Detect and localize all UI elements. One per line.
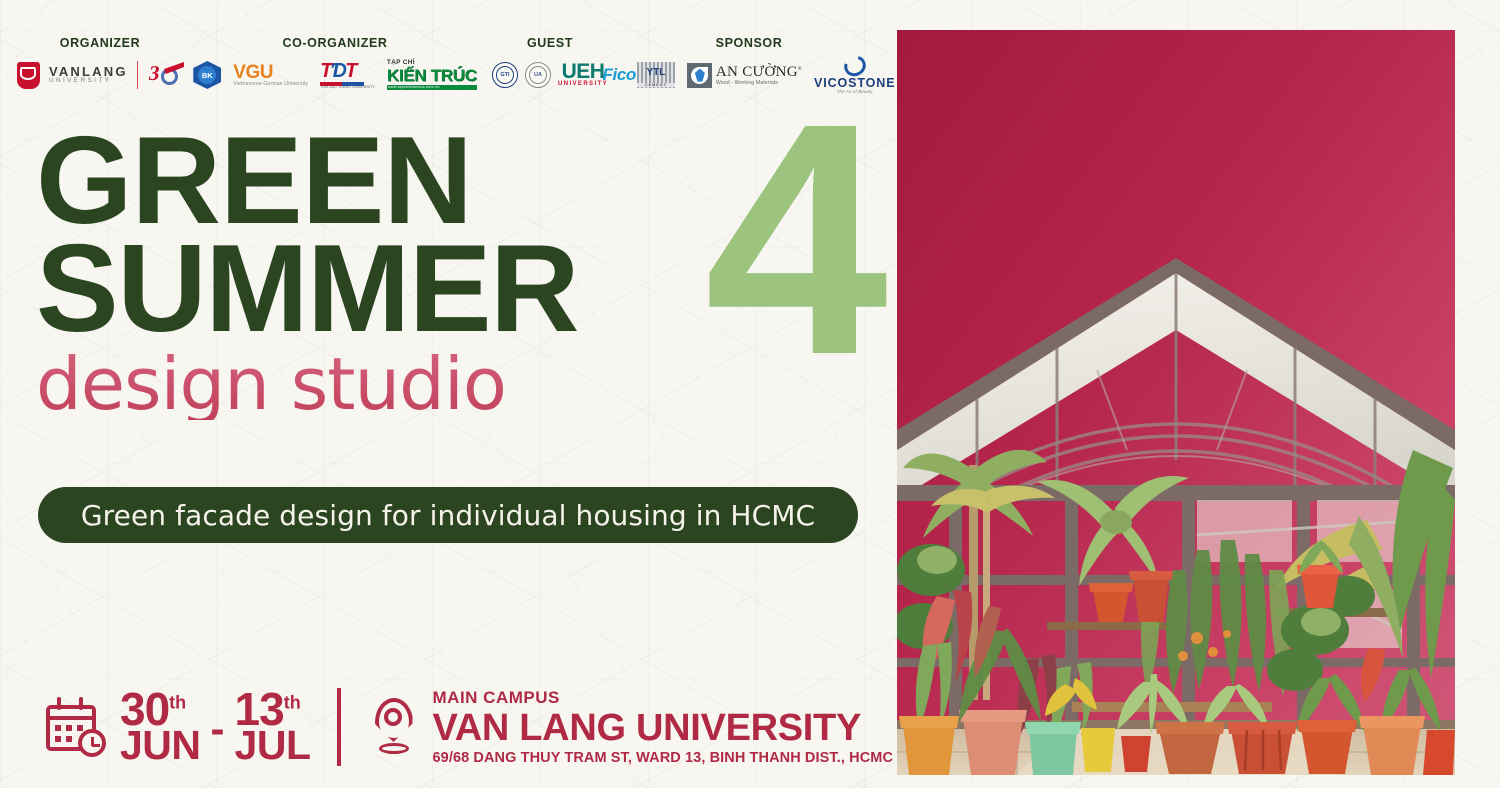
kien-truc-logo: TẠP CHÍ KIẾN TRÚC www.tapchikientruc.com… — [387, 60, 477, 90]
venue-address: 69/68 DANG THUY TRAM ST, WARD 13, BINH T… — [433, 751, 894, 766]
venue-kicker: MAIN CAMPUS — [433, 689, 894, 706]
gti-seal-icon: GTI — [492, 62, 518, 88]
anniversary-30-icon: 3 — [147, 60, 183, 90]
tdt-logo: TƊT TON DUC THANG UNIVERSITY — [320, 61, 375, 90]
headline-line-summer: SUMMER — [36, 236, 876, 344]
credit-group-co-organizer: CO-ORGANIZER BK VGU Vietnamese-German Un… — [190, 36, 480, 94]
an-cuong-logo: AN CƯỜNG® Wood - Working Materials — [687, 63, 802, 88]
co-organizer-label: CO-ORGANIZER — [190, 36, 480, 50]
sponsor-label: SPONSOR — [618, 36, 880, 50]
venue-name: VAN LANG UNIVERSITY — [433, 709, 894, 747]
ua-seal-icon: UA — [525, 62, 551, 88]
credit-group-sponsor: SPONSOR Fico YTL CEMENT AN CƯỜNG® Wood -… — [618, 36, 880, 94]
location-pin-icon — [371, 698, 417, 756]
headline-script: design studio — [36, 348, 876, 420]
guest-label: GUEST — [485, 36, 615, 50]
poster-headline: 4 GREEN SUMMER design studio — [36, 128, 876, 420]
event-date-range: 30th JUN - 13th JUL — [120, 691, 311, 762]
subtitle-banner: Green facade design for individual housi… — [38, 487, 858, 543]
logo-divider — [137, 61, 138, 89]
event-venue: MAIN CAMPUS VAN LANG UNIVERSITY 69/68 DA… — [433, 689, 894, 766]
event-end-date: 13th JUL — [235, 691, 311, 762]
vgu-logo: VGU Vietnamese-German University — [233, 63, 308, 87]
vanlang-wordmark: VANLANG UNIVERSITY — [49, 65, 128, 85]
vanlang-shield-icon — [17, 62, 40, 89]
greenhouse-illustration — [897, 30, 1455, 775]
credits-strip: ORGANIZER VANLANG UNIVERSITY 3 CO-ORGANI… — [0, 36, 880, 106]
bk-logo-icon: BK — [193, 61, 221, 89]
subtitle-text: Green facade design for individual housi… — [81, 499, 815, 532]
organizer-label: ORGANIZER — [10, 36, 190, 50]
calendar-clock-icon — [44, 697, 106, 757]
vicostone-logo: VICOSTONE The Art of Beauty — [814, 56, 896, 95]
an-cuong-mark-icon — [687, 63, 712, 88]
event-start-date: 30th JUN — [120, 691, 201, 762]
event-info-bar: 30th JUN - 13th JUL MAIN CAMPUS VAN LANG… — [44, 688, 893, 766]
credit-group-guest: GUEST GTI UA UEH UNIVERSITY — [485, 36, 615, 94]
date-range-dash: - — [211, 705, 225, 753]
ueh-logo: UEH UNIVERSITY — [558, 62, 608, 88]
info-divider — [337, 688, 341, 766]
fico-ytl-logo: Fico YTL CEMENT — [603, 62, 675, 88]
credit-group-organizer: ORGANIZER VANLANG UNIVERSITY 3 — [10, 36, 190, 94]
